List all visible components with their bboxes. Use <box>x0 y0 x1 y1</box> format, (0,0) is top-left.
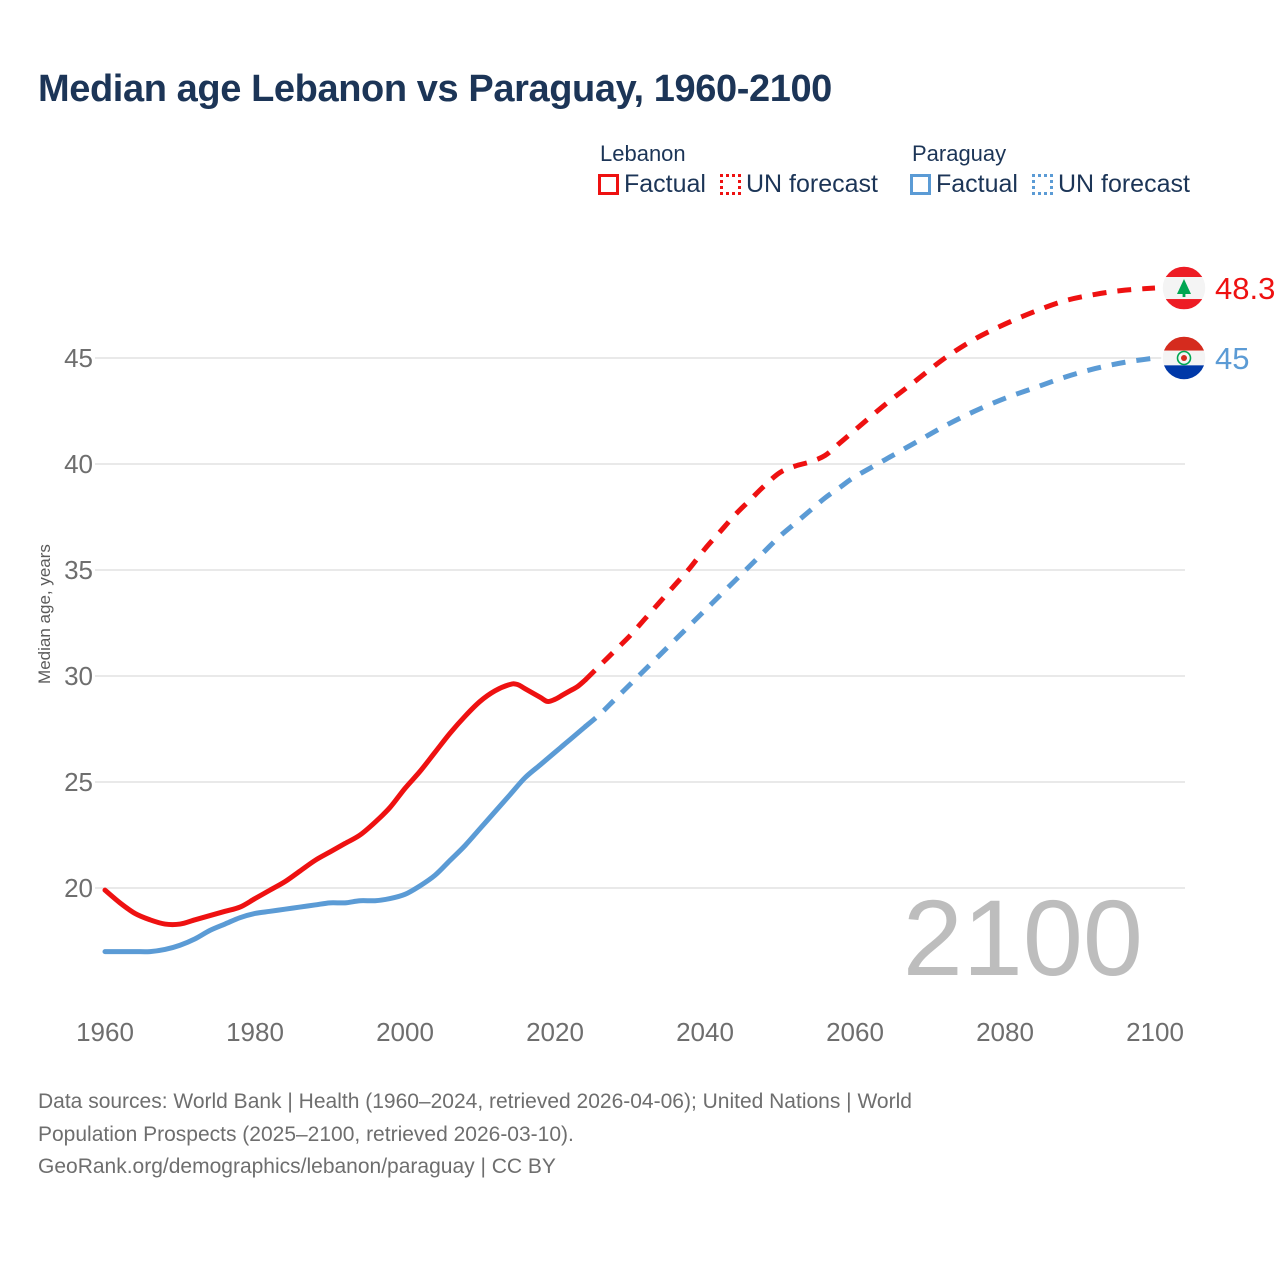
series-line-paraguay-forecast <box>585 358 1155 727</box>
y-axis-ticks: 202530354045 <box>64 343 93 903</box>
y-tick-label: 35 <box>64 555 93 585</box>
chart-page: Median age Lebanon vs Paraguay, 1960-210… <box>0 0 1280 1280</box>
x-tick-label: 2100 <box>1126 1017 1184 1047</box>
x-tick-label: 1960 <box>76 1017 134 1047</box>
y-axis-title-group: Median age, years <box>35 544 54 684</box>
watermark-year: 2100 <box>903 877 1143 998</box>
series-endpoint-paraguay: 45 <box>1162 336 1249 380</box>
endpoint-value-lebanon: 48.3 <box>1215 271 1275 306</box>
line-chart-plot: 2100 202530354045 1960198020002020204020… <box>0 0 1280 1060</box>
y-tick-label: 20 <box>64 873 93 903</box>
footer-line: Population Prospects (2025–2100, retriev… <box>38 1119 1188 1152</box>
series-endpoints-group: 48.345 <box>1162 266 1275 380</box>
y-axis-title: Median age, years <box>35 544 54 684</box>
y-tick-label: 25 <box>64 767 93 797</box>
x-tick-label: 1980 <box>226 1017 284 1047</box>
x-axis-ticks: 19601980200020202040206020802100 <box>76 1017 1184 1047</box>
x-tick-label: 2000 <box>376 1017 434 1047</box>
series-line-paraguay-factual <box>105 727 585 952</box>
watermark-group: 2100 <box>903 877 1143 998</box>
series-endpoint-lebanon: 48.3 <box>1162 266 1275 310</box>
footer-line: Data sources: World Bank | Health (1960–… <box>38 1086 1188 1119</box>
x-tick-label: 2060 <box>826 1017 884 1047</box>
x-tick-label: 2020 <box>526 1017 584 1047</box>
y-tick-label: 40 <box>64 449 93 479</box>
y-tick-label: 30 <box>64 661 93 691</box>
x-tick-label: 2040 <box>676 1017 734 1047</box>
footer-line[interactable]: GeoRank.org/demographics/lebanon/paragua… <box>38 1151 1188 1184</box>
data-series-group <box>105 288 1155 952</box>
x-tick-label: 2080 <box>976 1017 1034 1047</box>
endpoint-value-paraguay: 45 <box>1215 341 1249 376</box>
footer-attribution: Data sources: World Bank | Health (1960–… <box>38 1086 1188 1184</box>
y-tick-label: 45 <box>64 343 93 373</box>
series-line-lebanon-forecast <box>585 288 1155 680</box>
